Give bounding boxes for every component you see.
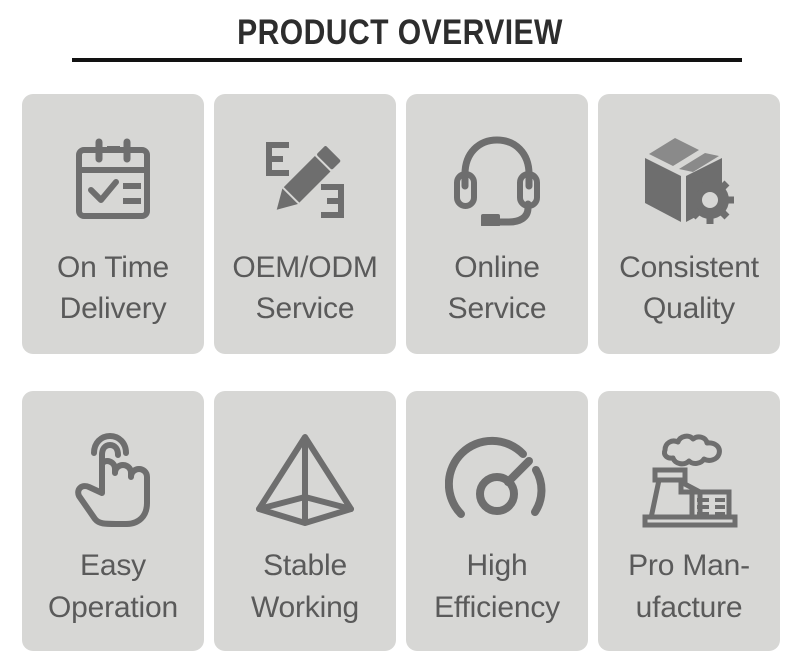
calendar-check-icon	[22, 112, 204, 247]
page-title: PRODUCT OVERVIEW	[56, 13, 744, 53]
feature-card-label: Consistent Quality	[598, 247, 780, 329]
feature-card-label: Easy Operation	[22, 545, 204, 629]
title-divider	[72, 58, 742, 62]
box-gear-icon	[598, 112, 780, 247]
pyramid-icon	[214, 413, 396, 545]
feature-card-label: On Time Delivery	[22, 247, 204, 329]
hand-tap-icon	[22, 413, 204, 545]
factory-icon	[598, 413, 780, 545]
feature-card-grid: On Time Delivery OEM/ODM Service	[22, 94, 780, 651]
gauge-icon	[406, 413, 588, 545]
feature-card-label: Online Service	[406, 247, 588, 329]
feature-card-stable-working[interactable]: Stable Working	[214, 391, 396, 651]
product-overview-page: PRODUCT OVERVIEW On Time Delivery	[0, 0, 800, 664]
feature-card-label: OEM/ODM Service	[214, 247, 396, 329]
feature-card-high-efficiency[interactable]: High Efficiency	[406, 391, 588, 651]
feature-card-easy-operation[interactable]: Easy Operation	[22, 391, 204, 651]
feature-card-consistent-quality[interactable]: Consistent Quality	[598, 94, 780, 354]
feature-card-oem-odm-service[interactable]: OEM/ODM Service	[214, 94, 396, 354]
header: PRODUCT OVERVIEW	[0, 0, 800, 78]
feature-card-pro-manufacture[interactable]: Pro Man- ufacture	[598, 391, 780, 651]
feature-card-label: High Efficiency	[406, 545, 588, 629]
feature-card-on-time-delivery[interactable]: On Time Delivery	[22, 94, 204, 354]
pencil-design-icon	[214, 112, 396, 247]
feature-card-online-service[interactable]: Online Service	[406, 94, 588, 354]
headset-icon	[406, 112, 588, 247]
feature-card-label: Stable Working	[214, 545, 396, 629]
feature-card-label: Pro Man- ufacture	[598, 545, 780, 629]
